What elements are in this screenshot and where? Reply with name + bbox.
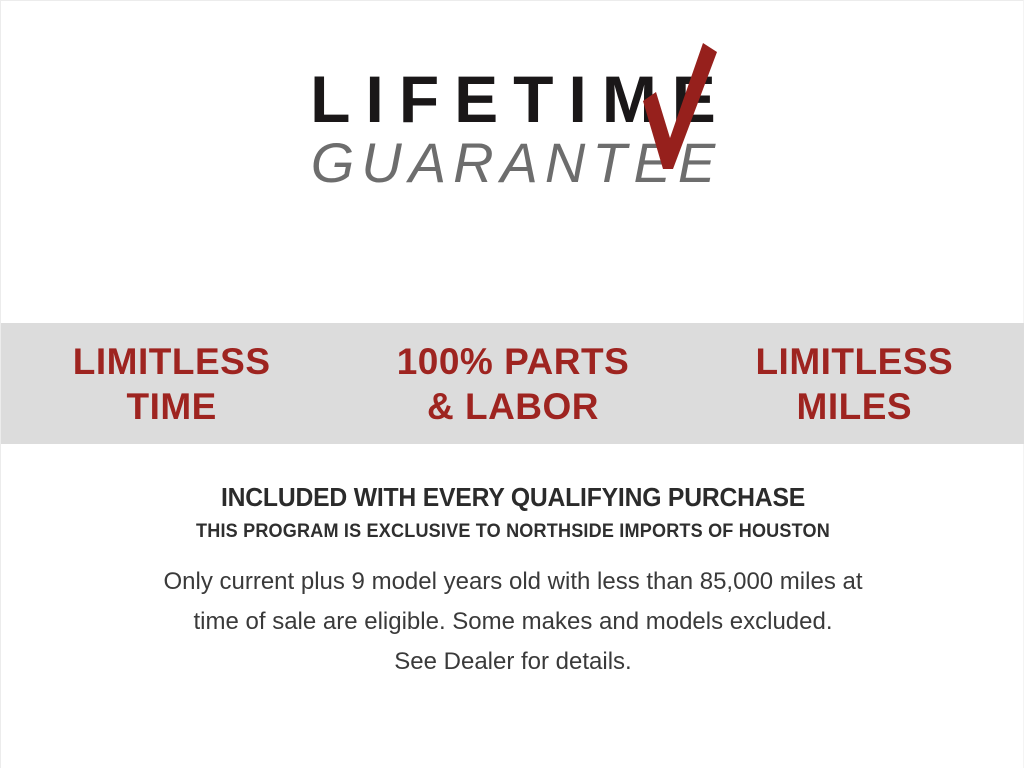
disclaimer-line: See Dealer for details. <box>53 642 973 682</box>
headline: INCLUDED WITH EVERY QUALIFYING PURCHASE <box>27 482 1000 512</box>
disclaimer-line: time of sale are eligible. Some makes an… <box>53 602 973 642</box>
feature-column-line2: TIME <box>1 384 342 429</box>
logo-wordmark: LIFETIME GUARANTEE <box>291 63 735 193</box>
feature-column-line2: MILES <box>684 384 1024 429</box>
feature-band: LIMITLESS TIME 100% PARTS & LABOR LIMITL… <box>1 323 1024 444</box>
feature-column-line1: LIMITLESS <box>73 341 271 382</box>
logo-primary-text: LIFETIME <box>295 63 731 135</box>
disclaimer-line: Only current plus 9 model years old with… <box>53 562 973 602</box>
disclaimer: Only current plus 9 model years old with… <box>53 562 973 682</box>
feature-column-line1: LIMITLESS <box>755 341 953 382</box>
feature-column-limitless-time: LIMITLESS TIME <box>1 339 342 429</box>
logo-block: LIFETIME GUARANTEE <box>1 63 1024 193</box>
lifetime-guarantee-promo-graphic: LIFETIME GUARANTEE LIMITLESS TIME 100% P… <box>0 0 1024 768</box>
subheadline: THIS PROGRAM IS EXCLUSIVE TO NORTHSIDE I… <box>27 520 1000 544</box>
info-block: INCLUDED WITH EVERY QUALIFYING PURCHASE … <box>1 482 1024 682</box>
feature-column-limitless-miles: LIMITLESS MILES <box>684 339 1024 429</box>
feature-column-line1: 100% PARTS <box>397 341 630 382</box>
logo-secondary-text: GUARANTEE <box>295 133 731 193</box>
feature-column-line2: & LABOR <box>342 384 683 429</box>
feature-column-parts-labor: 100% PARTS & LABOR <box>342 339 683 429</box>
